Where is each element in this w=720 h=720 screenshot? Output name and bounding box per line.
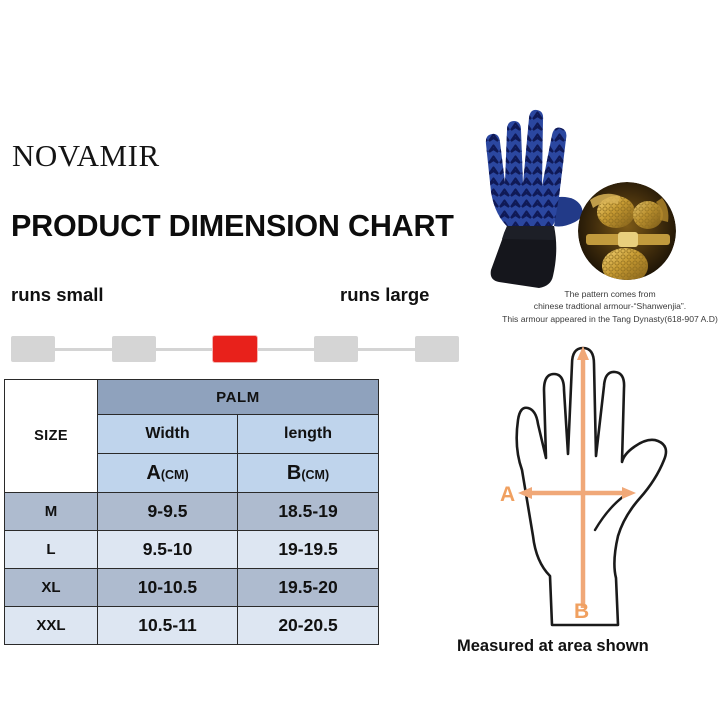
header-unit-a: A(CM) xyxy=(98,454,238,493)
cell-width: 10.5-11 xyxy=(98,607,238,645)
unit-suffix-a: (CM) xyxy=(161,468,189,482)
table-head: SIZE PALM Width length A(CM) B(CM) xyxy=(5,380,379,493)
cell-width: 10-10.5 xyxy=(98,569,238,607)
table-row: XXL 10.5-11 20-20.5 xyxy=(5,607,379,645)
table-header-row-group: SIZE PALM xyxy=(5,380,379,415)
header-unit-b: B(CM) xyxy=(238,454,379,493)
fit-label-runs-small: runs small xyxy=(11,284,104,306)
cell-width: 9.5-10 xyxy=(98,531,238,569)
unit-letter-a: A xyxy=(146,462,160,484)
page-title: PRODUCT DIMENSION CHART xyxy=(11,209,454,244)
pattern-origin-caption: The pattern comes from chinese tradtiona… xyxy=(500,288,720,325)
header-palm: PALM xyxy=(98,380,379,415)
cell-size: XXL xyxy=(5,607,98,645)
fit-scale-track xyxy=(11,336,459,362)
measure-label-a: A xyxy=(500,483,515,506)
cell-size: XL xyxy=(5,569,98,607)
armour-photo-inset xyxy=(578,182,676,280)
fit-segment-3-active xyxy=(213,336,257,362)
pattern-caption-line-1: The pattern comes from xyxy=(500,288,720,300)
fit-scale-labels: runs small runs large xyxy=(0,284,470,308)
table-row: M 9-9.5 18.5-19 xyxy=(5,493,379,531)
cell-length: 19-19.5 xyxy=(238,531,379,569)
fit-segment-1 xyxy=(11,336,55,362)
fit-segment-2 xyxy=(112,336,156,362)
cell-length: 18.5-19 xyxy=(238,493,379,531)
glove-product-photo xyxy=(455,100,605,292)
pattern-caption-line-2: chinese tradtional armour-“Shanwenjia”. xyxy=(500,300,720,312)
glove-cuff-band xyxy=(502,226,555,240)
fit-scale: runs small runs large xyxy=(0,284,470,364)
table-row: XL 10-10.5 19.5-20 xyxy=(5,569,379,607)
measure-label-b: B xyxy=(574,600,589,623)
table-body: M 9-9.5 18.5-19 L 9.5-10 19-19.5 XL 10-1… xyxy=(5,493,379,645)
fit-segment-4 xyxy=(314,336,358,362)
header-size: SIZE xyxy=(5,380,98,493)
cell-length: 20-20.5 xyxy=(238,607,379,645)
cell-size: L xyxy=(5,531,98,569)
unit-suffix-b: (CM) xyxy=(301,468,329,482)
unit-letter-b: B xyxy=(287,462,301,484)
hand-outline xyxy=(517,348,666,625)
pattern-caption-line-3: This armour appeared in the Tang Dynasty… xyxy=(500,313,720,325)
header-width: Width xyxy=(98,415,238,454)
size-table: SIZE PALM Width length A(CM) B(CM) M 9-9… xyxy=(4,379,379,645)
brand-wordmark: NOVAMIR xyxy=(12,138,160,174)
measured-area-caption: Measured at area shown xyxy=(457,637,649,656)
hand-measurement-diagram: A B xyxy=(452,330,712,630)
table-row: L 9.5-10 19-19.5 xyxy=(5,531,379,569)
cell-width: 9-9.5 xyxy=(98,493,238,531)
fit-label-runs-large: runs large xyxy=(340,284,429,306)
cell-size: M xyxy=(5,493,98,531)
header-length: length xyxy=(238,415,379,454)
cell-length: 19.5-20 xyxy=(238,569,379,607)
